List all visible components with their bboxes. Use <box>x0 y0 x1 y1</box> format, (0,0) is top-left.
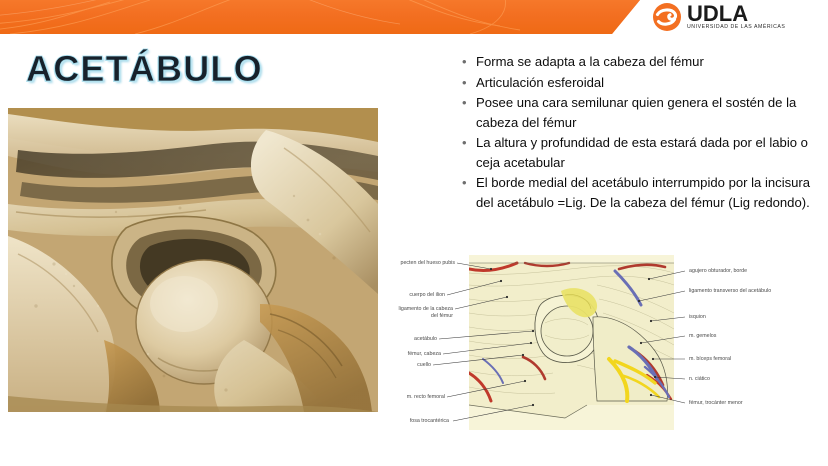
diagram-label-isquion: isquion <box>689 314 706 321</box>
udla-logo: UDLA UNIVERSIDAD DE LAS AMÉRICAS <box>652 2 822 32</box>
diagram-label-ligamento-transverso-acetabulo: ligamento transverso del acetábulo <box>689 288 771 295</box>
list-item-text: Articulación esferoidal <box>476 73 823 93</box>
cadaveric-hip-joint-photograph <box>8 108 378 412</box>
bullet-marker-icon: • <box>457 52 476 72</box>
diagram-label-agujero-obturador-borde: agujero obturador, borde <box>689 268 747 275</box>
list-item-text: La altura y profundidad de esta estará d… <box>476 133 823 172</box>
diagram-label-acetabulo: acetábulo <box>383 336 437 343</box>
udla-swirl-mark-icon <box>652 2 682 32</box>
diagram-label-m-gemelos: m. gemelos <box>689 333 716 340</box>
list-item: • Posee una cara semilunar quien genera … <box>457 93 823 132</box>
page-title: ACETÁBULO <box>26 48 263 90</box>
bullet-marker-icon: • <box>457 173 476 193</box>
diagram-label-pecten-hueso-pubis: pecten del hueso pubis <box>383 260 455 267</box>
diagram-label-cuerpo-del-ilion: cuerpo del ilion <box>383 292 445 299</box>
logo-tagline: UNIVERSIDAD DE LAS AMÉRICAS <box>687 25 785 30</box>
list-item: • El borde medial del acetábulo interrum… <box>457 173 823 212</box>
bullet-marker-icon: • <box>457 133 476 153</box>
list-item-text: Posee una cara semilunar quien genera el… <box>476 93 823 132</box>
list-item: • Articulación esferoidal <box>457 73 823 93</box>
bullet-marker-icon: • <box>457 73 476 93</box>
diagram-label-fosa-trocanterica: fosa trocantérica <box>383 418 449 425</box>
logo-wordmark: UDLA <box>687 4 785 24</box>
slide-canvas: UDLA UNIVERSIDAD DE LAS AMÉRICAS ACETÁBU… <box>0 0 828 466</box>
list-item-text: Forma se adapta a la cabeza del fémur <box>476 52 823 72</box>
diagram-label-m-biceps-femoral: m. bíceps femoral <box>689 356 731 363</box>
bullet-list: • Forma se adapta a la cabeza del fémur … <box>457 52 823 213</box>
diagram-label-femur-trocanter-menor: fémur, trocánter menor <box>689 400 743 407</box>
list-item: • Forma se adapta a la cabeza del fémur <box>457 52 823 72</box>
diagram-label-femur-cabeza: fémur, cabeza <box>383 351 441 358</box>
diagram-label-m-recto-femoral: m. recto femoral <box>383 394 445 401</box>
diagram-label-n-ciatico: n. ciático <box>689 376 710 383</box>
bullet-marker-icon: • <box>457 93 476 113</box>
diagram-label-ligamento-cabeza-femur-line1: ligamento de la cabeza <box>383 306 453 313</box>
diagram-illustration <box>469 255 674 430</box>
acetabulum-anatomical-diagram: pecten del hueso pubis cuerpo del ilion … <box>383 255 820 430</box>
list-item-text: El borde medial del acetábulo interrumpi… <box>476 173 823 212</box>
list-item: • La altura y profundidad de esta estará… <box>457 133 823 172</box>
photograph-content <box>8 108 378 412</box>
diagram-label-cuello: cuello <box>383 362 431 369</box>
diagram-label-ligamento-cabeza-femur-line2: del fémur <box>383 313 453 320</box>
